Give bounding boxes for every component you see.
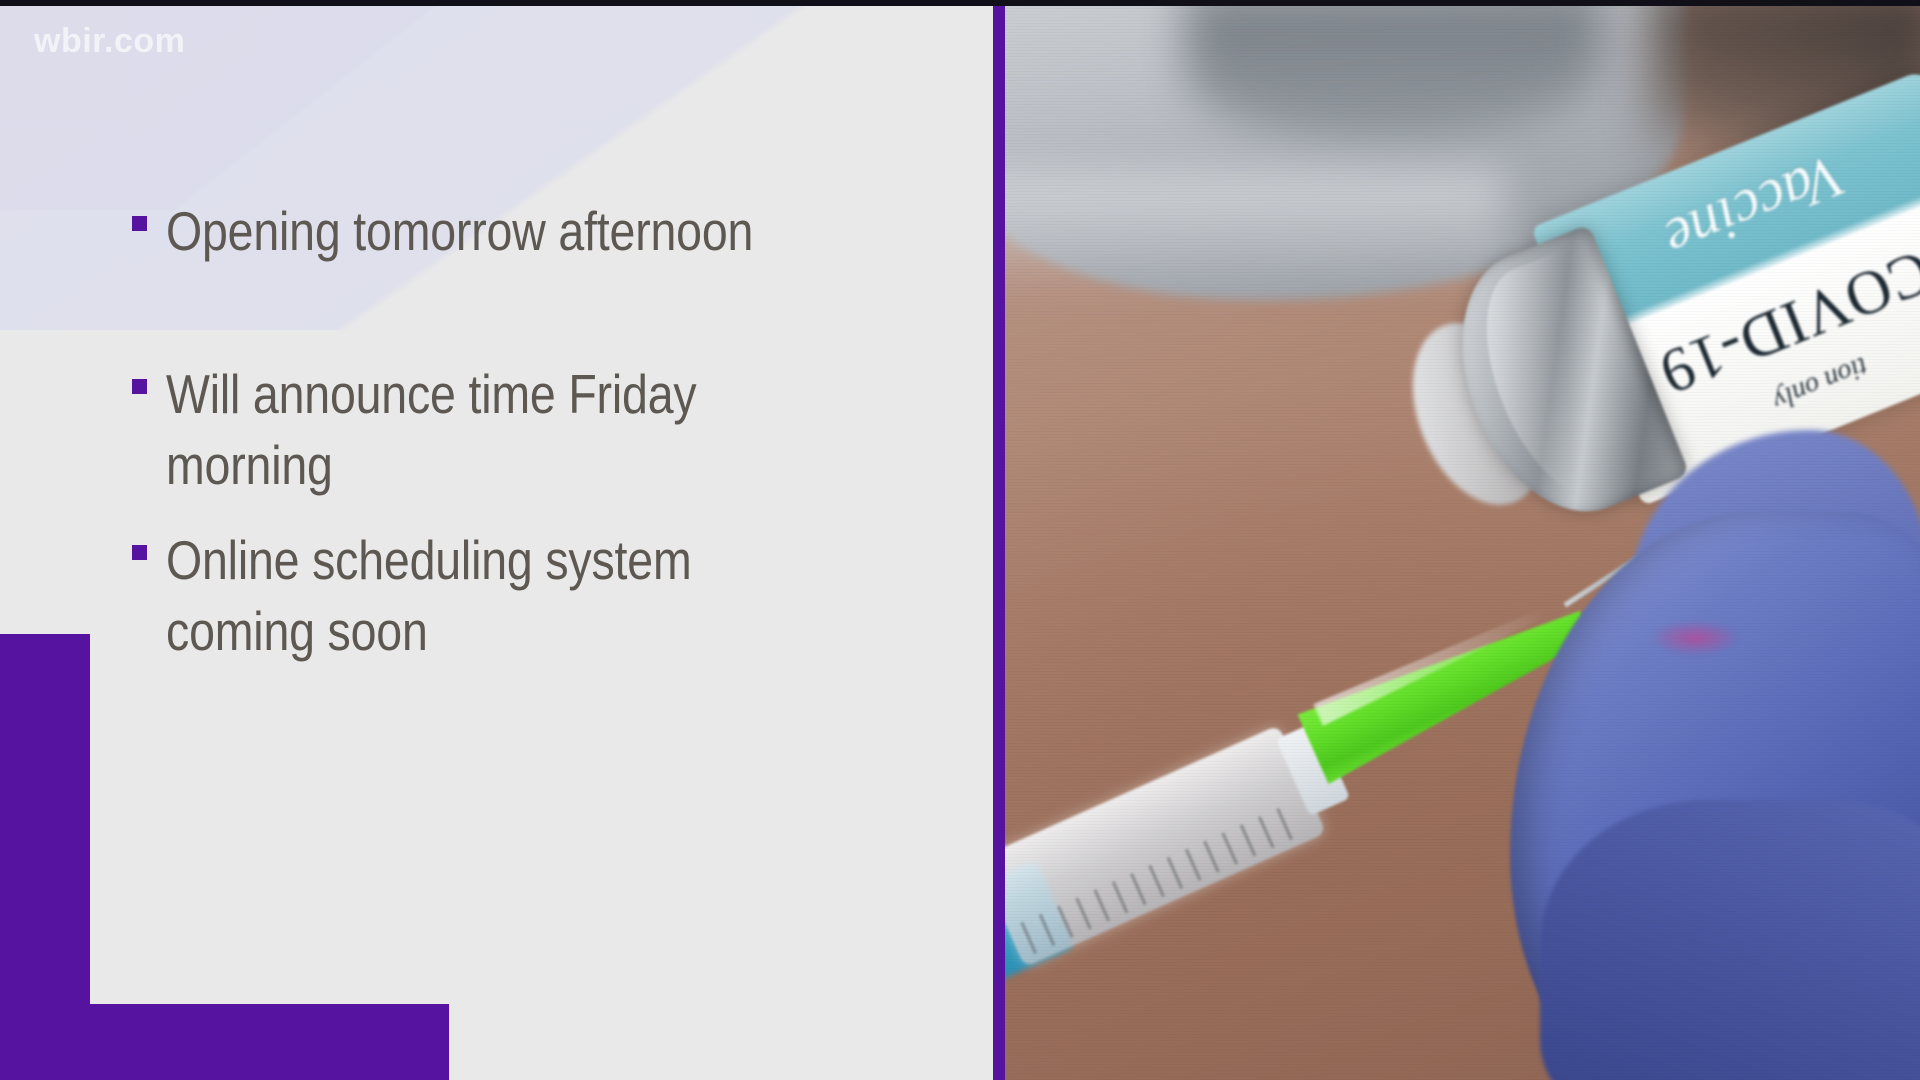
square-bullet-icon <box>132 545 147 560</box>
vaccine-photo: Vaccine COVID-19 tion only <box>1005 0 1920 1080</box>
purple-l-accent-horizontal <box>0 1004 449 1080</box>
syringe-graduation-marks <box>1020 805 1299 954</box>
glove-marking <box>1650 620 1740 656</box>
syringe-barrel <box>1005 725 1326 967</box>
bullet-list: Opening tomorrow afternoon Will announce… <box>132 196 942 667</box>
list-item: Online scheduling system coming soon <box>132 525 942 667</box>
square-bullet-icon <box>132 379 147 394</box>
bullet-spacer-large <box>132 267 942 359</box>
square-bullet-icon <box>132 216 147 231</box>
left-text-panel: wbir.com Opening tomorrow afternoon Will… <box>0 0 993 1080</box>
purple-l-accent-vertical <box>0 634 90 1006</box>
bullet-text: Will announce time Friday morning <box>166 359 822 501</box>
top-black-edge <box>0 0 1920 6</box>
bullet-text: Online scheduling system coming soon <box>166 525 822 667</box>
panel-divider-stripe <box>993 0 1005 1080</box>
list-item: Will announce time Friday morning <box>132 359 942 501</box>
broadcast-graphic-stage: wbir.com Opening tomorrow afternoon Will… <box>0 0 1920 1080</box>
bullet-text: Opening tomorrow afternoon <box>166 196 822 267</box>
bullet-spacer-small <box>132 501 942 525</box>
list-item: Opening tomorrow afternoon <box>132 196 942 267</box>
station-watermark: wbir.com <box>34 22 185 61</box>
gloved-hand-lower <box>1540 800 1920 1080</box>
